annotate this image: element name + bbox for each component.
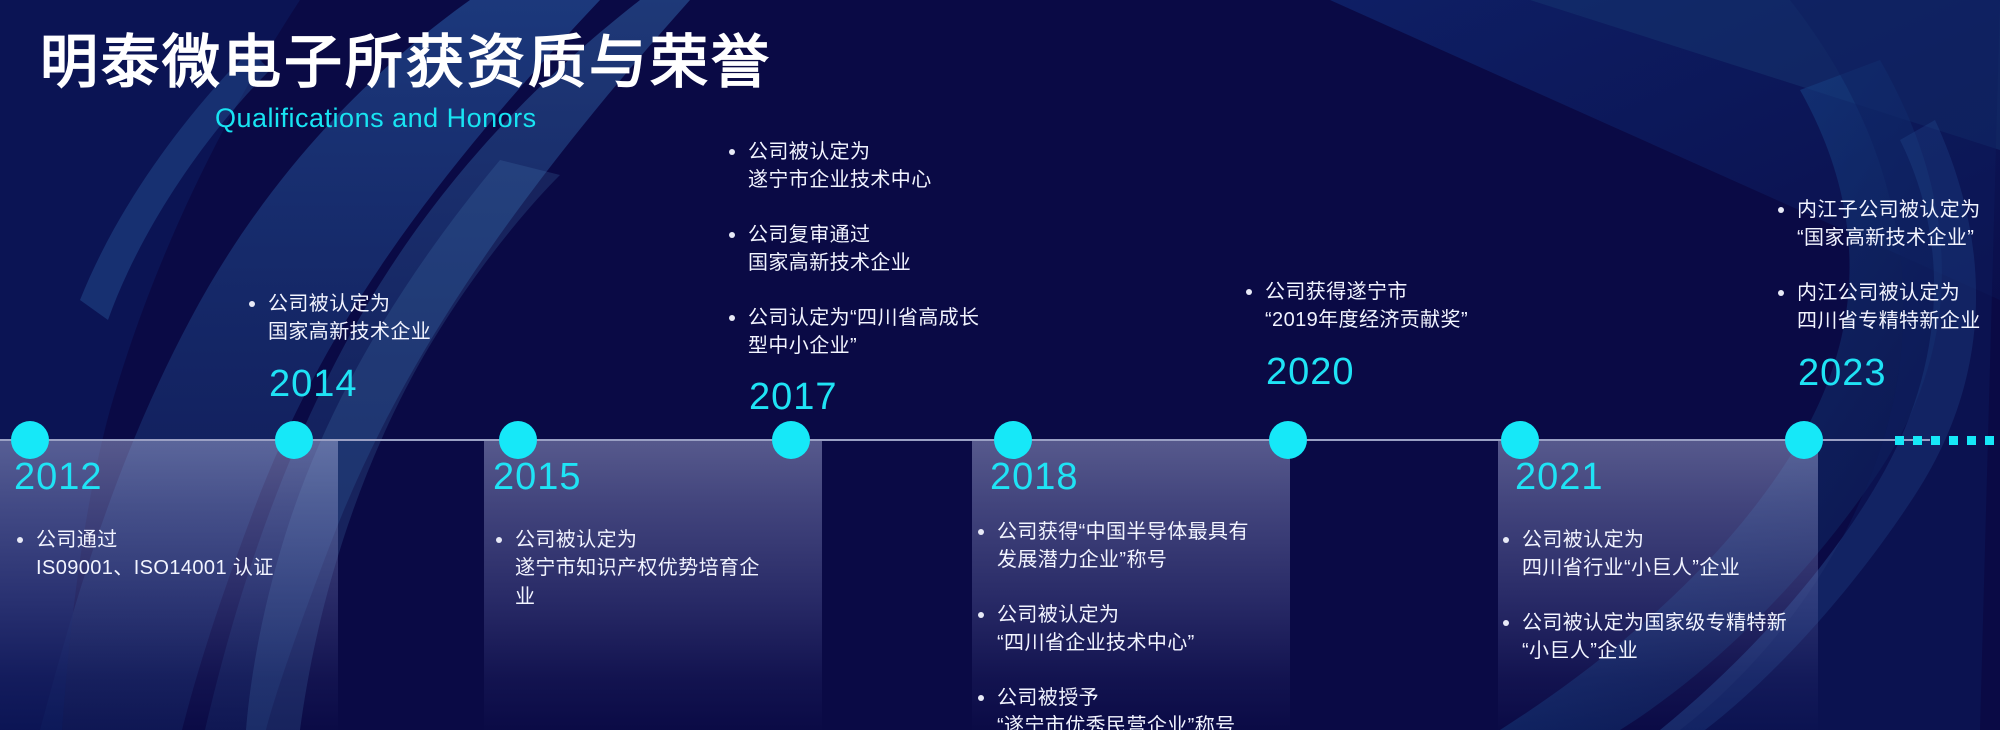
timeline-entry-2018[interactable]: 2018 公司获得“中国半导体最具有 发展潜力企业”称号 公司被认定为 “四川省… <box>975 458 1275 730</box>
timeline-year-2012: 2012 <box>14 458 344 496</box>
timeline-slide: 明泰微电子所获资质与荣誉 Qualifications and Honors 2… <box>0 0 2000 730</box>
page-title-block: 明泰微电子所获资质与荣誉 Qualifications and Honors <box>40 30 772 134</box>
timeline-entry-2014[interactable]: 公司被认定为 国家高新技术企业 2014 <box>246 290 566 403</box>
list-item: 公司被授予 “遂宁市优秀民营企业”称号 <box>975 684 1275 730</box>
list-item: 内江公司被认定为 四川省专精特新企业 <box>1775 279 2000 336</box>
timeline-bullets-2015: 公司被认定为 遂宁市知识产权优势培育企 业 <box>493 526 768 611</box>
timeline-bullets-2021: 公司被认定为 四川省行业“小巨人”企业 公司被认定为国家级专精特新 “小巨人”企… <box>1500 526 1825 666</box>
timeline-year-2015: 2015 <box>493 458 768 496</box>
timeline-year-2020: 2020 <box>1266 353 1553 391</box>
timeline-year-2018: 2018 <box>990 458 1275 496</box>
timeline-axis-tail-dashes <box>1895 436 1994 445</box>
list-item: 公司获得“中国半导体最具有 发展潜力企业”称号 <box>975 518 1275 575</box>
page-title: 明泰微电子所获资质与荣誉 <box>40 30 772 97</box>
timeline-node-2012[interactable] <box>11 421 49 459</box>
timeline-year-2014: 2014 <box>269 365 566 403</box>
timeline-bullets-2014: 公司被认定为 国家高新技术企业 <box>246 290 566 347</box>
timeline-entry-2020[interactable]: 公司获得遂宁市 “2019年度经济贡献奖” 2020 <box>1243 278 1553 391</box>
list-item: 公司复审通过 国家高新技术企业 <box>726 221 1046 278</box>
timeline-entry-2023[interactable]: 内江子公司被认定为 “国家高新技术企业” 内江公司被认定为 四川省专精特新企业 … <box>1775 196 2000 392</box>
list-item: 公司被认定为 四川省行业“小巨人”企业 <box>1500 526 1825 583</box>
timeline-entry-2012[interactable]: 2012 公司通过 IS09001、ISO14001 认证 <box>14 458 344 583</box>
timeline-year-2023: 2023 <box>1798 354 2000 392</box>
page-subtitle: Qualifications and Honors <box>215 103 772 134</box>
axis-dash <box>1913 436 1922 445</box>
axis-dash <box>1931 436 1940 445</box>
timeline-bullets-2018: 公司获得“中国半导体最具有 发展潜力企业”称号 公司被认定为 “四川省企业技术中… <box>975 518 1275 730</box>
list-item: 公司获得遂宁市 “2019年度经济贡献奖” <box>1243 278 1553 335</box>
axis-dash <box>1967 436 1976 445</box>
list-item: 公司认定为“四川省高成长 型中小企业” <box>726 304 1046 361</box>
list-item: 公司通过 IS09001、ISO14001 认证 <box>14 526 344 583</box>
timeline-entry-2021[interactable]: 2021 公司被认定为 四川省行业“小巨人”企业 公司被认定为国家级专精特新 “… <box>1500 458 1825 666</box>
list-item: 公司被认定为国家级专精特新 “小巨人”企业 <box>1500 609 1825 666</box>
timeline-bullets-2020: 公司获得遂宁市 “2019年度经济贡献奖” <box>1243 278 1553 335</box>
timeline-year-2017: 2017 <box>749 378 1046 416</box>
timeline-entry-2017[interactable]: 公司被认定为 遂宁市企业技术中心 公司复审通过 国家高新技术企业 公司认定为“四… <box>726 138 1046 416</box>
axis-dash <box>1949 436 1958 445</box>
timeline-node-2014[interactable] <box>275 421 313 459</box>
list-item: 公司被认定为 遂宁市企业技术中心 <box>726 138 1046 195</box>
timeline-year-2021: 2021 <box>1515 458 1825 496</box>
timeline-node-2020[interactable] <box>1269 421 1307 459</box>
timeline-node-2017[interactable] <box>772 421 810 459</box>
axis-dash <box>1985 436 1994 445</box>
list-item: 公司被认定为 国家高新技术企业 <box>246 290 566 347</box>
list-item: 公司被认定为 遂宁市知识产权优势培育企 业 <box>493 526 768 611</box>
axis-dash <box>1895 436 1904 445</box>
timeline-node-2021[interactable] <box>1501 421 1539 459</box>
timeline-node-2015[interactable] <box>499 421 537 459</box>
timeline-bullets-2023: 内江子公司被认定为 “国家高新技术企业” 内江公司被认定为 四川省专精特新企业 <box>1775 196 2000 336</box>
timeline-entry-2015[interactable]: 2015 公司被认定为 遂宁市知识产权优势培育企 业 <box>478 458 768 611</box>
list-item: 公司被认定为 “四川省企业技术中心” <box>975 601 1275 658</box>
timeline-node-2023[interactable] <box>1785 421 1823 459</box>
list-item: 内江子公司被认定为 “国家高新技术企业” <box>1775 196 2000 253</box>
timeline-bullets-2012: 公司通过 IS09001、ISO14001 认证 <box>14 526 344 583</box>
timeline-node-2018[interactable] <box>994 421 1032 459</box>
timeline-bullets-2017: 公司被认定为 遂宁市企业技术中心 公司复审通过 国家高新技术企业 公司认定为“四… <box>726 138 1046 360</box>
